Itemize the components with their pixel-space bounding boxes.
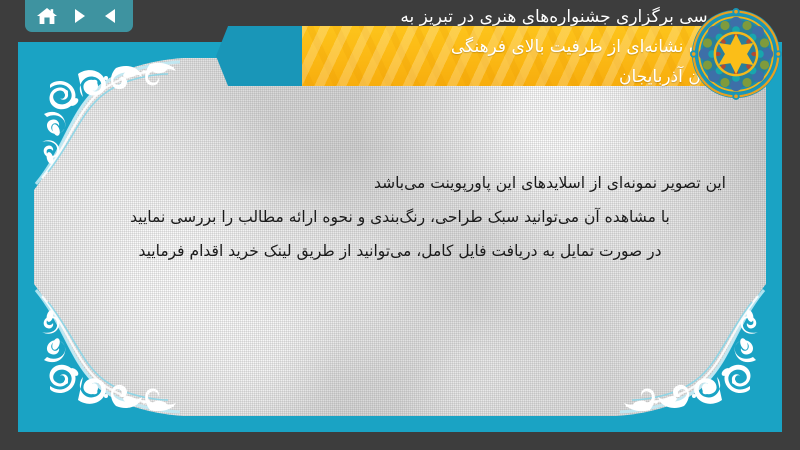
slide-frame: این تصویر نمونه‌ای از اسلایدهای این پاور…: [18, 42, 782, 432]
right-arrow-icon: [69, 6, 89, 26]
body-line-2: با مشاهده آن می‌توانید سبک طراحی، رنگ‌بن…: [74, 200, 726, 234]
slide-viewer: این تصویر نمونه‌ای از اسلایدهای این پاور…: [0, 0, 800, 450]
title-line-1: بررسی برگزاری جشنواره‌های هنری در تبریز …: [210, 2, 730, 32]
title-line-2: عنوان نشانه‌ای از ظرفیت بالای فرهنگی: [210, 32, 730, 62]
slide-canvas: این تصویر نمونه‌ای از اسلایدهای این پاور…: [34, 58, 766, 416]
next-slide-button[interactable]: [66, 4, 92, 28]
body-line-1: این تصویر نمونه‌ای از اسلایدهای این پاور…: [74, 166, 726, 200]
corner-ornament-bottom-right: [616, 284, 766, 416]
home-icon: [36, 6, 58, 26]
left-arrow-icon: [101, 6, 121, 26]
slide-title: بررسی برگزاری جشنواره‌های هنری در تبریز …: [210, 2, 730, 92]
slide-body-text: این تصویر نمونه‌ای از اسلایدهای این پاور…: [74, 166, 726, 268]
corner-ornament-bottom-left: [34, 284, 184, 416]
body-line-3: در صورت تمایل به دریافت فایل کامل، می‌تو…: [74, 234, 726, 268]
slide-navigation-bar: [25, 0, 133, 32]
home-button[interactable]: [34, 4, 60, 28]
title-line-3: استان آذربایجان: [210, 62, 730, 92]
previous-slide-button[interactable]: [98, 4, 124, 28]
